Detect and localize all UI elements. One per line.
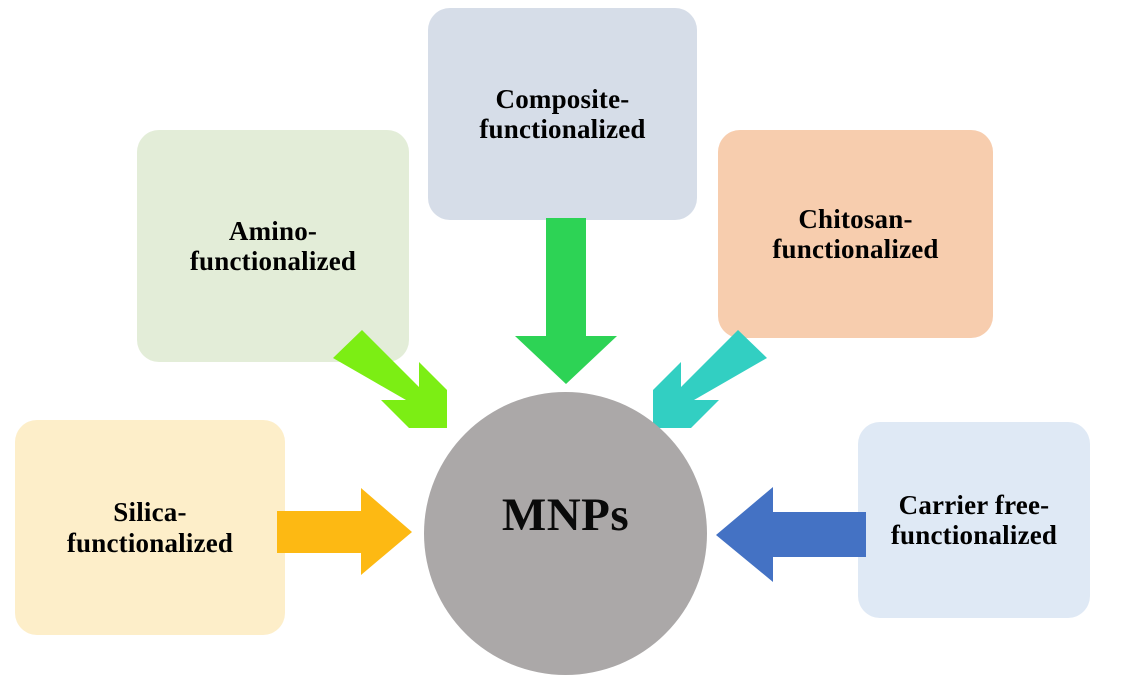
arrow-chitosan-to-center-icon	[650, 330, 770, 430]
node-amino-functionalized[interactable]: Amino- functionalized	[137, 130, 409, 362]
node-carrier-free-functionalized[interactable]: Carrier free- functionalized	[858, 422, 1090, 618]
node-silica-label: Silica- functionalized	[67, 497, 233, 557]
diagram-canvas: Amino- functionalized Composite- functio…	[0, 0, 1133, 675]
center-node-mnps[interactable]: MNPs	[424, 392, 707, 675]
arrow-silica-to-center-icon	[277, 488, 413, 576]
node-amino-label: Amino- functionalized	[190, 216, 356, 276]
center-node-label: MNPs	[502, 488, 629, 542]
node-composite-label: Composite- functionalized	[479, 84, 645, 144]
node-chitosan-functionalized[interactable]: Chitosan- functionalized	[718, 130, 993, 338]
arrow-amino-to-center-icon	[330, 330, 450, 430]
node-chitosan-label: Chitosan- functionalized	[772, 204, 938, 264]
node-silica-functionalized[interactable]: Silica- functionalized	[15, 420, 285, 635]
arrow-composite-to-center-icon	[513, 218, 619, 386]
arrow-carrier-to-center-icon	[715, 487, 867, 583]
node-composite-functionalized[interactable]: Composite- functionalized	[428, 8, 697, 220]
node-carrier-label: Carrier free- functionalized	[891, 490, 1057, 550]
